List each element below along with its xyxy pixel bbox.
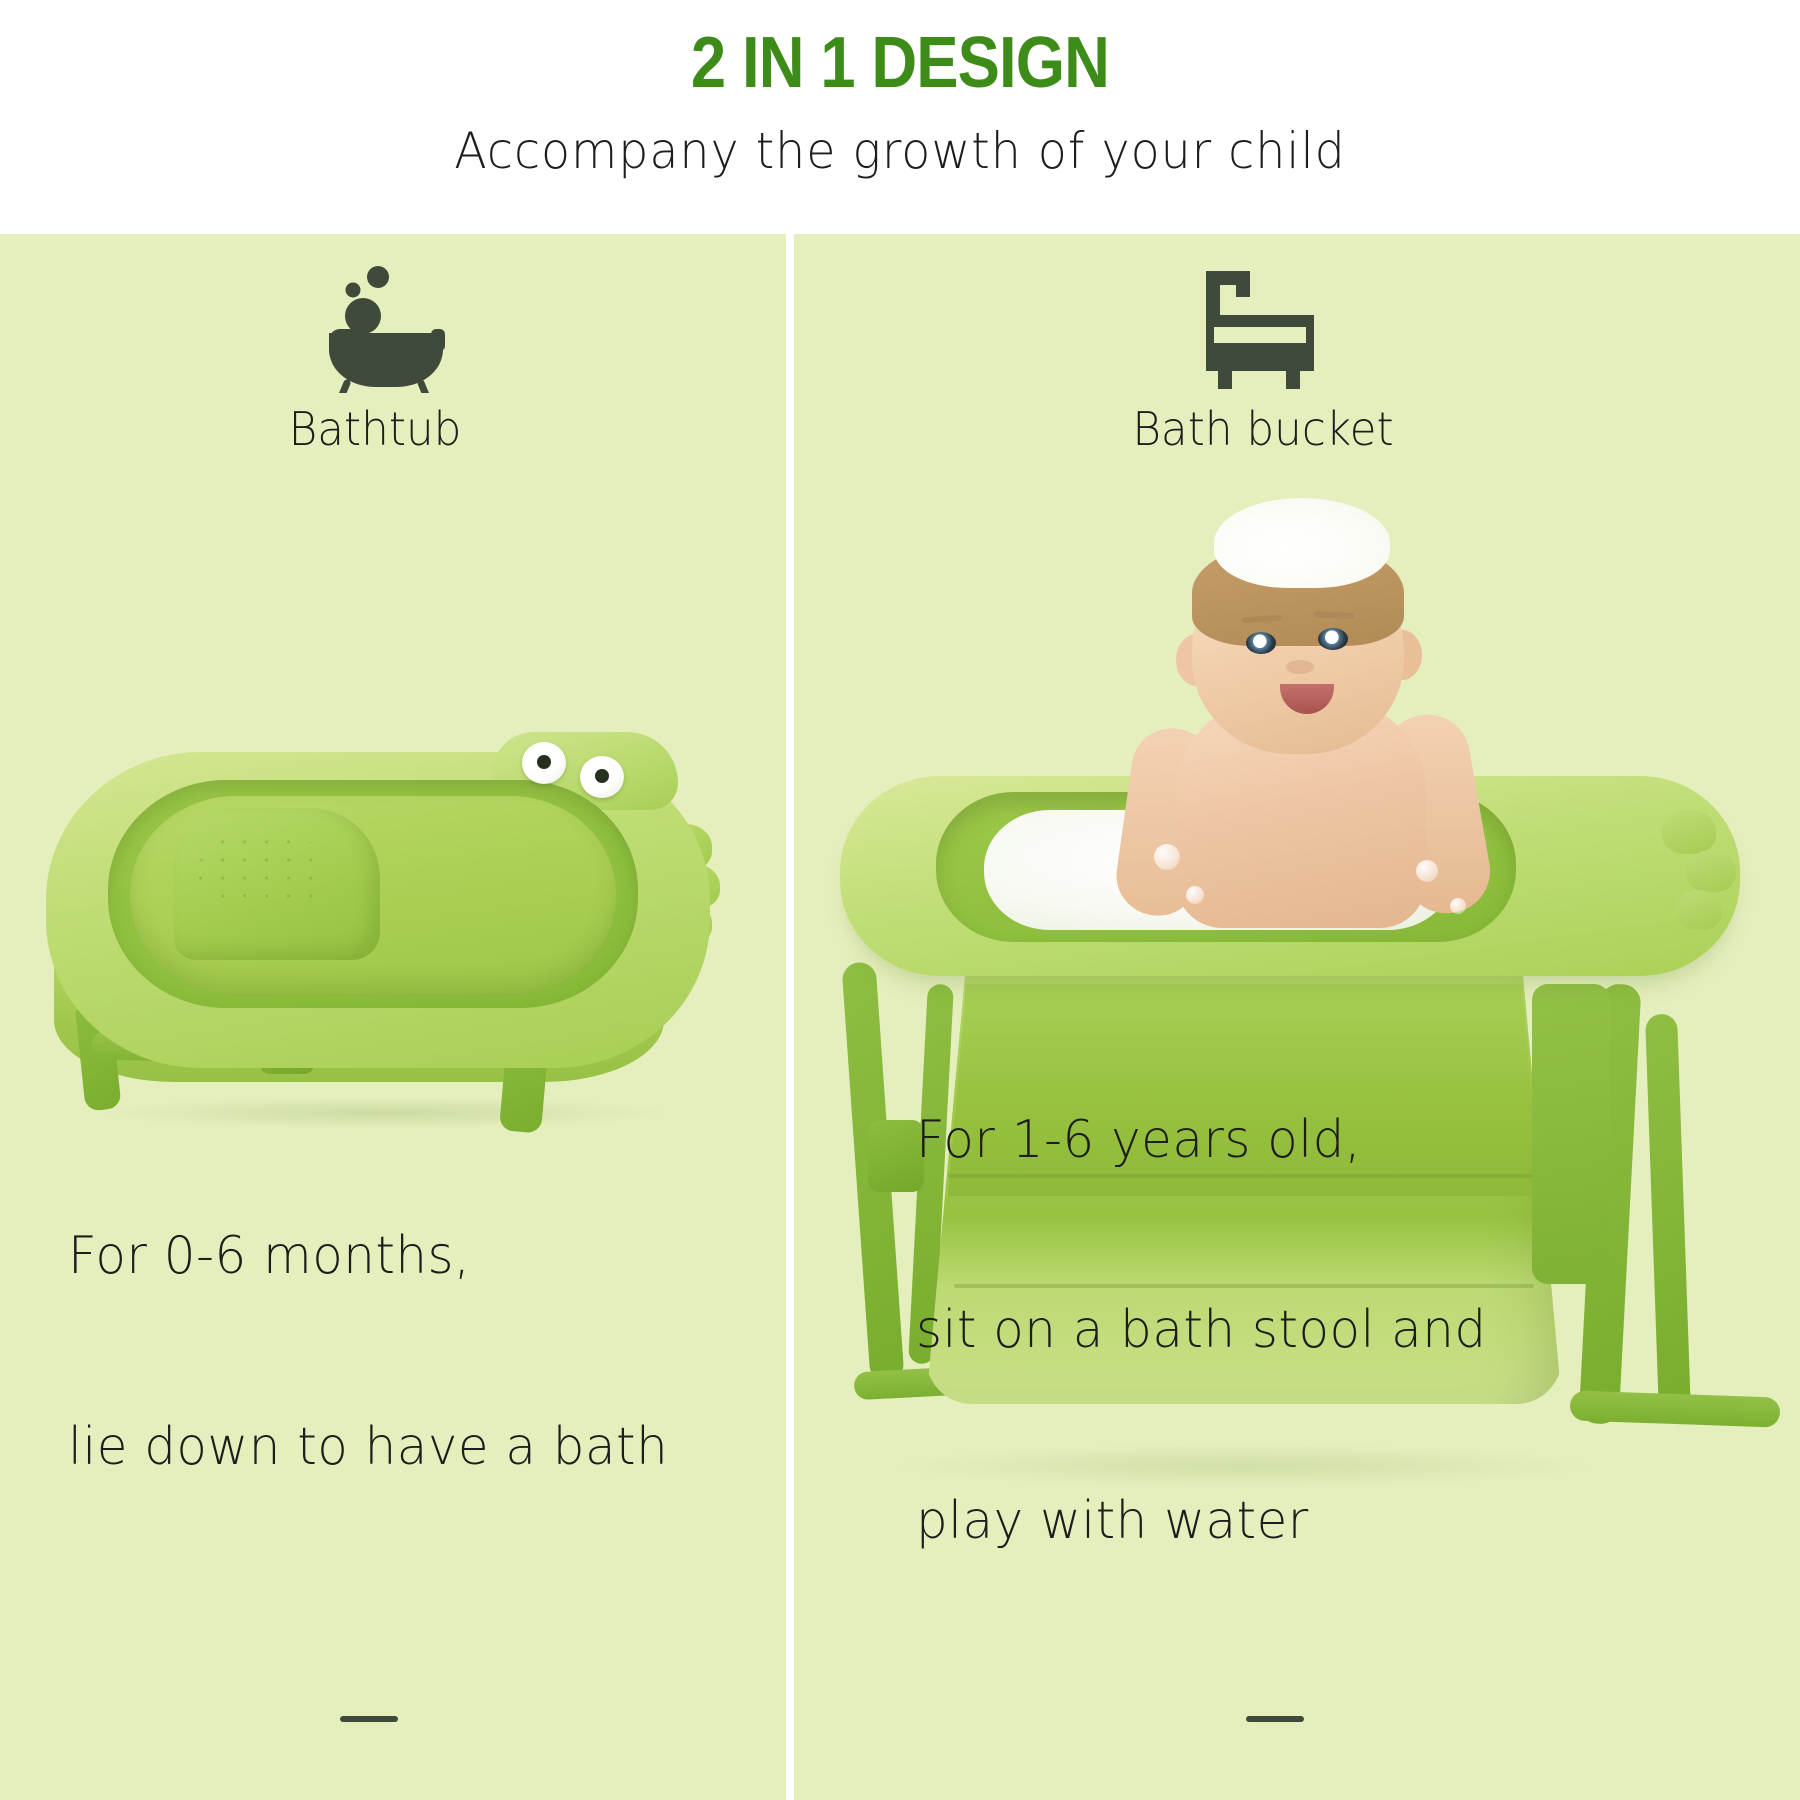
soap-bubble xyxy=(1186,886,1204,904)
panel-container: Bathtub For 0-6 mo xyxy=(0,234,1800,1800)
caption-line: sit on a bath stool and xyxy=(916,1299,1487,1362)
product-image-bathtub xyxy=(24,704,764,1134)
caption-line: play with water xyxy=(916,1490,1487,1553)
soap-bubble xyxy=(1154,844,1180,870)
bathtub-icon xyxy=(300,253,450,393)
divider-dash-right xyxy=(1246,1716,1304,1722)
soap-bubble xyxy=(1450,898,1466,914)
bucket-foot-nub-2 xyxy=(1686,850,1736,892)
baby-nose xyxy=(1286,660,1314,674)
bucket-side-bracket xyxy=(1532,984,1610,1284)
infographic-page: 2 IN 1 DESIGN Accompany the growth of yo… xyxy=(0,0,1800,1800)
caption-line: For 1-6 years old, xyxy=(916,1109,1487,1172)
panel-bathtub: Bathtub For 0-6 mo xyxy=(0,234,786,1800)
soap-bubble xyxy=(1416,860,1438,882)
bath-bucket-icon-wrap xyxy=(794,248,1766,398)
header: 2 IN 1 DESIGN Accompany the growth of yo… xyxy=(0,0,1800,234)
caption-line: For 0-6 months, xyxy=(68,1225,668,1288)
bathtub-icon-label: Bathtub xyxy=(2,402,749,456)
frog-eye-right xyxy=(580,756,624,798)
panel-bath-bucket: Bath bucket xyxy=(794,234,1800,1800)
divider-dash-left xyxy=(340,1716,398,1722)
bathtub-icon-wrap xyxy=(0,248,768,398)
bucket-leg-back-right-inner xyxy=(1645,1014,1691,1415)
caption-bathtub: For 0-6 months, lie down to have a bath xyxy=(68,1099,668,1607)
baby-eye-left xyxy=(1246,632,1276,654)
bath-bucket-icon-label: Bath bucket xyxy=(794,402,1741,456)
baby-foam-hat xyxy=(1214,498,1390,588)
page-title: 2 IN 1 DESIGN xyxy=(108,22,1692,104)
caption-line: lie down to have a bath xyxy=(68,1416,668,1479)
bath-bucket-icon xyxy=(1188,253,1338,393)
baby-eye-right xyxy=(1318,628,1348,650)
bucket-foot-nub-3 xyxy=(1676,890,1722,930)
tub-infant-seat xyxy=(174,808,380,960)
page-subtitle: Accompany the growth of your child xyxy=(45,122,1755,180)
frog-eye-left xyxy=(522,742,566,784)
caption-bath-bucket: For 1-6 years old, sit on a bath stool a… xyxy=(916,982,1487,1680)
baby-photo xyxy=(1064,514,1534,934)
bucket-foot-nub-1 xyxy=(1662,810,1716,854)
